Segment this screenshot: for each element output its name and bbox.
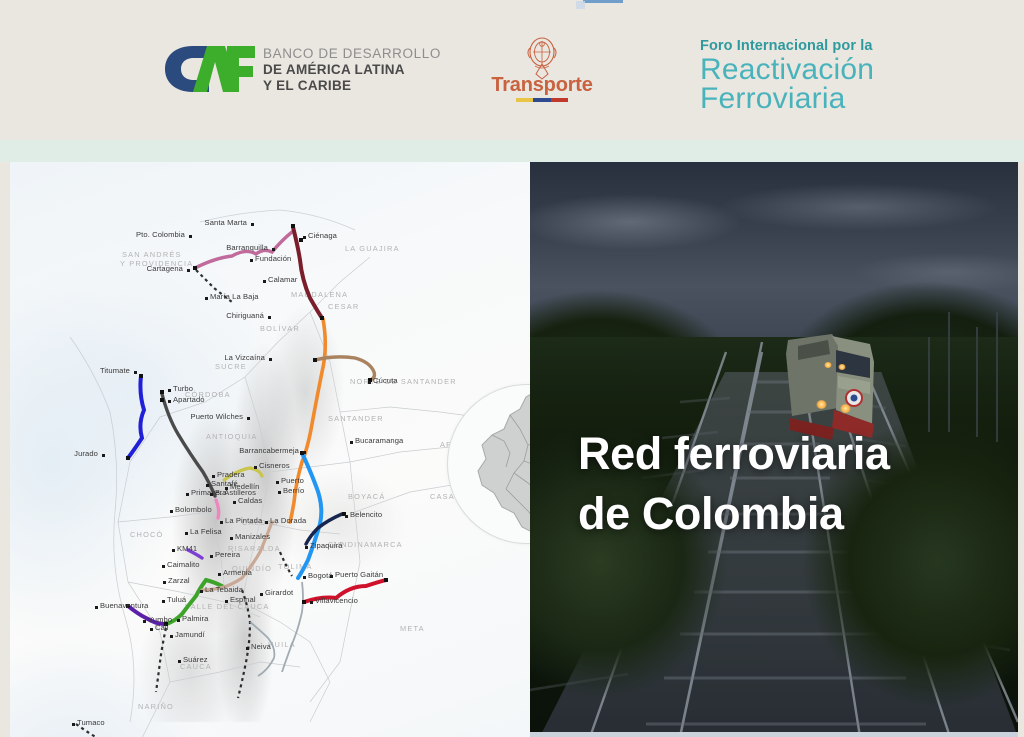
city-dot	[250, 259, 253, 262]
city-dot	[200, 590, 203, 593]
city-label: Zarzal	[168, 576, 190, 585]
city-label: Caimalito	[167, 560, 200, 569]
caf-line-2: DE AMÉRICA LATINA	[263, 62, 423, 78]
city-dot	[263, 280, 266, 283]
city-label: Medellín	[230, 482, 260, 491]
city-dot	[303, 451, 306, 454]
caf-logo: BANCO DE DESARROLLO DE AMÉRICA LATINA Y …	[163, 44, 418, 100]
city-dot	[350, 441, 353, 444]
city-label: Titumate	[100, 366, 130, 375]
city-dot	[163, 581, 166, 584]
foro-line-2: Reactivación	[700, 55, 960, 84]
city-label: Manizales	[235, 532, 270, 541]
title-line-1: Red ferroviaria	[578, 424, 998, 484]
city-label: Chiriguaná	[226, 311, 264, 320]
city-label: Calamar	[268, 275, 297, 284]
city-label: Zipaquirá	[310, 541, 343, 550]
city-label: Ciénaga	[308, 231, 337, 240]
foro-line-3: Ferroviaria	[700, 84, 960, 113]
city-dot	[210, 493, 213, 496]
city-dot	[230, 537, 233, 540]
caf-line-3: Y EL CARIBE	[263, 78, 423, 94]
city-label: Belencito	[350, 510, 382, 519]
city-dot	[162, 565, 165, 568]
city-dot	[303, 576, 306, 579]
city-dot	[246, 647, 249, 650]
city-dot	[260, 593, 263, 596]
city-dot	[310, 601, 313, 604]
city-dot	[276, 481, 279, 484]
city-dot	[189, 235, 192, 238]
city-dot	[206, 484, 209, 487]
city-dot	[186, 493, 189, 496]
city-label: La Vizcaína	[224, 353, 265, 362]
city-label: Armenia	[223, 568, 252, 577]
headlight-top-right	[838, 364, 846, 370]
utility-pole-1	[948, 312, 950, 432]
city-label: Tuluá	[167, 595, 186, 604]
city-label: Puerto	[281, 476, 304, 485]
slide-root: BANCO DE DESARROLLO DE AMÉRICA LATINA Y …	[0, 0, 1024, 737]
city-label: Cisneros	[259, 461, 290, 470]
city-label: Turbo	[173, 384, 193, 393]
city-dot	[172, 549, 175, 552]
city-dot	[162, 600, 165, 603]
city-dot	[254, 466, 257, 469]
city-dot	[170, 635, 173, 638]
city-label: Bucaramanga	[355, 436, 403, 445]
city-label: Puerto Wilches	[191, 412, 243, 421]
city-dot	[225, 487, 228, 490]
city-label: La Tebaida	[205, 585, 243, 594]
top-blue-artifact-secondary	[576, 1, 585, 9]
header-bar: BANCO DE DESARROLLO DE AMÉRICA LATINA Y …	[0, 0, 1024, 140]
city-label: Suárez	[183, 655, 208, 664]
city-label: La Felisa	[190, 527, 222, 536]
title-line-2: de Colombia	[578, 484, 998, 544]
city-label: Villavicencio	[315, 596, 358, 605]
city-label: Tumaco	[77, 718, 105, 727]
utility-pole-2	[976, 327, 978, 437]
city-dot	[143, 620, 146, 623]
city-dot	[205, 297, 208, 300]
city-label: Espinal	[230, 595, 256, 604]
city-dot	[212, 475, 215, 478]
city-dot	[210, 555, 213, 558]
city-label: Cúcuta	[373, 376, 398, 385]
city-label: Barranquilla	[226, 243, 268, 252]
city-label: Neiva	[251, 642, 271, 651]
utility-pole-3	[928, 337, 930, 432]
city-label: Jamundí	[175, 630, 205, 639]
city-dot	[368, 381, 371, 384]
city-label: La Pintada	[225, 516, 262, 525]
photo-bottom-strip	[530, 732, 1018, 737]
city-dot	[330, 575, 333, 578]
headlight-right	[840, 404, 851, 413]
city-dot	[247, 417, 250, 420]
city-dot	[177, 619, 180, 622]
headlight-top-left	[824, 362, 832, 368]
caf-line-1: BANCO DE DESARROLLO	[263, 46, 423, 62]
headlight-left	[816, 400, 827, 409]
city-dot	[185, 532, 188, 535]
city-label: Pereira	[215, 550, 240, 559]
foro-logo: Foro Internacional por la Reactivación F…	[700, 38, 960, 110]
mint-divider-band	[0, 140, 1024, 162]
city-label: Girardot	[265, 588, 293, 597]
city-label: Apartadó	[173, 395, 205, 404]
city-label: Cali	[155, 623, 168, 632]
city-label: Buenaventura	[100, 601, 149, 610]
city-label: Berrío	[283, 486, 304, 495]
city-dot	[251, 223, 254, 226]
city-dot	[233, 501, 236, 504]
train-photo: Red ferroviaria de Colombia	[530, 162, 1018, 737]
city-label: Pto. Colombia	[136, 230, 185, 239]
city-dot	[269, 358, 272, 361]
utility-pole-4	[996, 312, 998, 442]
city-dot	[345, 515, 348, 518]
city-label: Cartagena	[147, 264, 183, 273]
city-label: Santa Marta	[205, 218, 247, 227]
caf-mark-icon	[163, 44, 255, 94]
city-dot	[220, 521, 223, 524]
city-dot	[72, 723, 75, 726]
city-dot	[178, 660, 181, 663]
city-label: Caldas	[238, 496, 262, 505]
city-dot	[134, 371, 137, 374]
city-dot	[272, 248, 275, 251]
city-dot	[95, 606, 98, 609]
transporte-logo: Transporte	[482, 36, 602, 108]
city-label: Puerto Gaitán	[335, 570, 383, 579]
city-label: María La Baja	[210, 292, 259, 301]
city-dot	[168, 400, 171, 403]
city-label: Pradera	[217, 470, 245, 479]
city-label: Bogotá	[308, 571, 333, 580]
city-dot	[170, 510, 173, 513]
city-dot	[303, 236, 306, 239]
slide-title: Red ferroviaria de Colombia	[578, 424, 998, 544]
city-dot	[305, 546, 308, 549]
city-dot	[265, 521, 268, 524]
city-dot	[168, 389, 171, 392]
city-label: Barrancabermeja	[239, 446, 299, 455]
city-dot	[218, 573, 221, 576]
transporte-wordmark: Transporte	[482, 74, 602, 97]
colombia-flag-icon	[516, 98, 568, 102]
caf-wordmark: BANCO DE DESARROLLO DE AMÉRICA LATINA Y …	[263, 46, 423, 94]
city-label: La Dorada	[270, 516, 306, 525]
city-dot	[150, 628, 153, 631]
city-dot	[268, 316, 271, 319]
content-area: SAN ANDRÉSY PROVIDENCIALA GUAJIRAMAGDALE…	[10, 162, 1018, 737]
top-blue-artifact	[583, 0, 623, 3]
city-dot	[102, 454, 105, 457]
city-dot	[278, 491, 281, 494]
city-label: Fundación	[255, 254, 291, 263]
city-dot	[187, 269, 190, 272]
city-label: Bolombolo	[175, 505, 212, 514]
city-label: KM41	[177, 544, 197, 553]
city-label: Jurado	[74, 449, 98, 458]
city-dot	[225, 600, 228, 603]
railway-map[interactable]: SAN ANDRÉSY PROVIDENCIALA GUAJIRAMAGDALE…	[10, 162, 530, 737]
city-label: Palmira	[182, 614, 208, 623]
